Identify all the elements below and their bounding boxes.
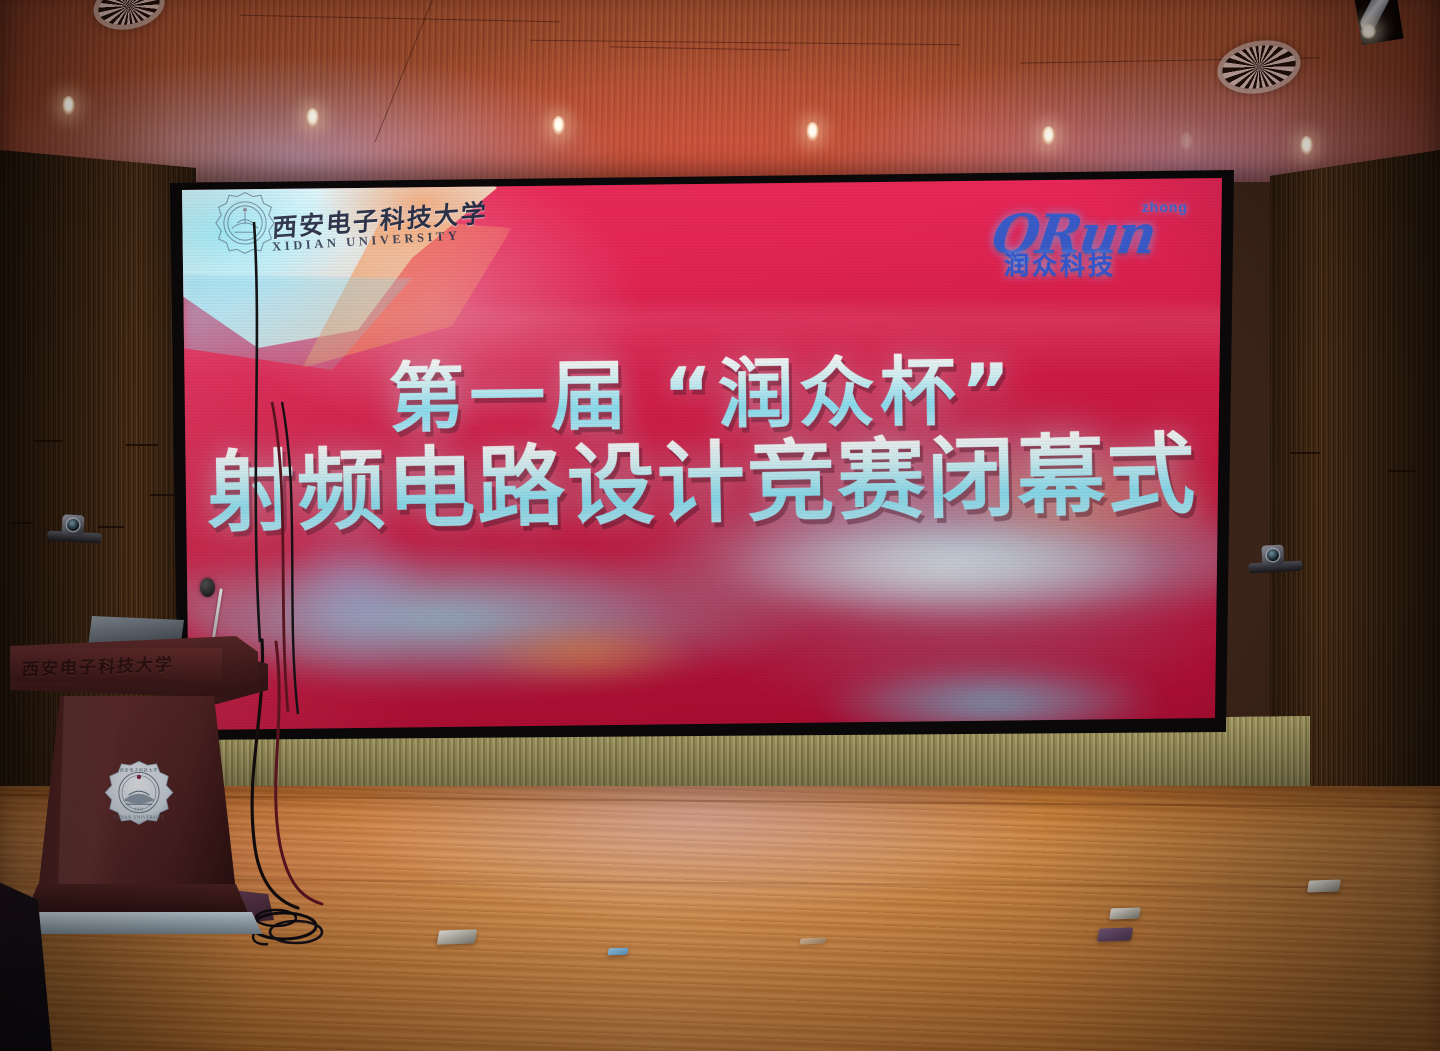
ribbon-swoosh xyxy=(742,638,1222,730)
sponsor-logo-superscript: zhong xyxy=(1142,199,1188,215)
seal-year: 1931 xyxy=(134,807,143,812)
wall-camera-left[interactable] xyxy=(47,511,102,544)
wall-groove xyxy=(1388,470,1416,472)
ceiling-downlight xyxy=(1300,136,1313,155)
wall-groove xyxy=(126,444,158,446)
ceiling-wood-panel xyxy=(0,0,1440,182)
floor-outlet[interactable] xyxy=(437,929,477,944)
banner-title-line2: 射频电路设计竞赛闭幕式 xyxy=(182,428,1222,540)
floor-outlet[interactable] xyxy=(799,938,826,945)
floor-outlet[interactable] xyxy=(1109,907,1141,919)
seal-english: XIDIAN UNIVERSITY xyxy=(113,815,165,820)
wall-camera-right[interactable] xyxy=(1247,541,1302,574)
ceiling-downlight xyxy=(1180,132,1193,151)
xidian-university-seal: 1931 XIDIAN UNIVERSITY 西安电子科技大学 xyxy=(100,760,178,838)
wall-groove xyxy=(10,522,34,524)
podium-plinth xyxy=(14,912,262,934)
ceiling-spotlight-well xyxy=(1355,0,1404,45)
wall-groove xyxy=(34,440,62,442)
floor-outlet[interactable] xyxy=(1097,927,1133,941)
sponsor-logo: QRun zhong 润众科技 xyxy=(992,196,1202,282)
auditorium-scene: 西安电子科技大学 XIDIAN UNIVERSITY QRun zhong 润众… xyxy=(0,0,1440,1051)
seal-chinese: 西安电子科技大学 xyxy=(120,768,158,773)
wall-cable xyxy=(268,402,338,722)
wall-groove xyxy=(1290,452,1320,454)
sponsor-logo-chinese: 润众科技 xyxy=(1004,246,1116,282)
microphone-icon[interactable] xyxy=(200,578,215,597)
ceiling-downlight xyxy=(306,108,319,127)
wall-groove xyxy=(150,494,178,496)
ceiling-downlight xyxy=(62,96,75,115)
banner-title: 第一届 “润众杯” 射频电路设计竞赛闭幕式 xyxy=(182,356,1222,530)
podium[interactable]: 西安电子科技大学 1931 XIDIAN UNIVERSITY 西安电子科技大学 xyxy=(2,612,266,942)
ceiling-downlight xyxy=(806,122,819,141)
floor-outlet[interactable] xyxy=(607,948,628,956)
ceiling-downlight xyxy=(1042,126,1055,145)
floor-outlet[interactable] xyxy=(1307,879,1341,892)
ceiling-downlight xyxy=(552,116,565,135)
